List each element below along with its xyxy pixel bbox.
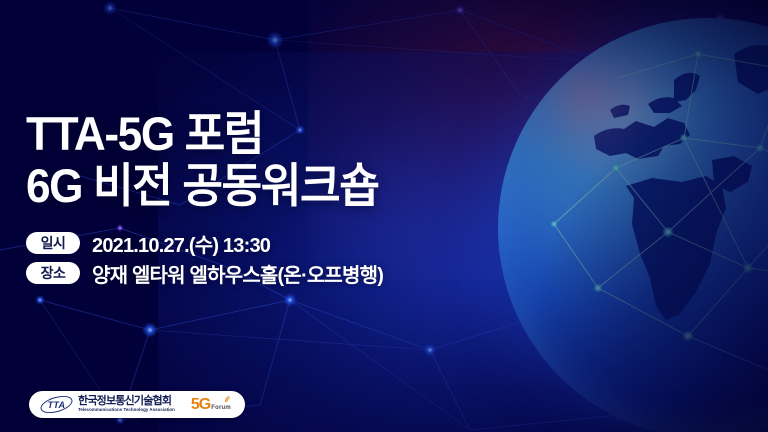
earth-globe [498, 18, 768, 432]
tta-korean-name: 한국정보통신기술협회 [78, 396, 175, 407]
tta-name-block: 한국정보통신기술협회 Telecommunications Technology… [78, 396, 175, 413]
title-line-1: TTA-5G 포럼 [26, 107, 263, 160]
poster-title: TTA-5G 포럼 6G 비전 공동워크숍 [26, 108, 379, 212]
5g-forum-sub: Forum [211, 404, 231, 412]
signal-wave-icon [224, 395, 232, 403]
poster-canvas: TTA-5G 포럼 6G 비전 공동워크숍 일시 2021.10.27.(수) … [0, 0, 768, 432]
badge-date-label: 일시 [26, 232, 80, 254]
badge-venue-label: 장소 [26, 262, 80, 284]
event-info: 일시 2021.10.27.(수) 13:30 장소 양재 엘타워 엘하우스홀(… [26, 228, 383, 288]
info-row-date: 일시 2021.10.27.(수) 13:30 [26, 228, 383, 258]
sponsor-logo-bar: TTA 한국정보통신기술협회 Telecommunications Techno… [29, 391, 245, 418]
globe-rim [498, 18, 768, 432]
tta-logo-icon: TTA [40, 397, 73, 412]
5g-forum-main: 5G [191, 398, 210, 412]
tta-mark-text: TTA [48, 400, 66, 410]
event-date-value: 2021.10.27.(수) 13:30 [92, 229, 270, 258]
info-row-venue: 장소 양재 엘타워 엘하우스홀(온·오프병행) [26, 258, 383, 288]
5g-forum-logo: 5G Forum [191, 398, 231, 412]
title-line-2: 6G 비전 공동워크숍 [26, 160, 379, 212]
tta-english-name: Telecommunications Technology Associatio… [78, 407, 175, 413]
event-venue-value: 양재 엘타워 엘하우스홀(온·오프병행) [92, 259, 383, 288]
